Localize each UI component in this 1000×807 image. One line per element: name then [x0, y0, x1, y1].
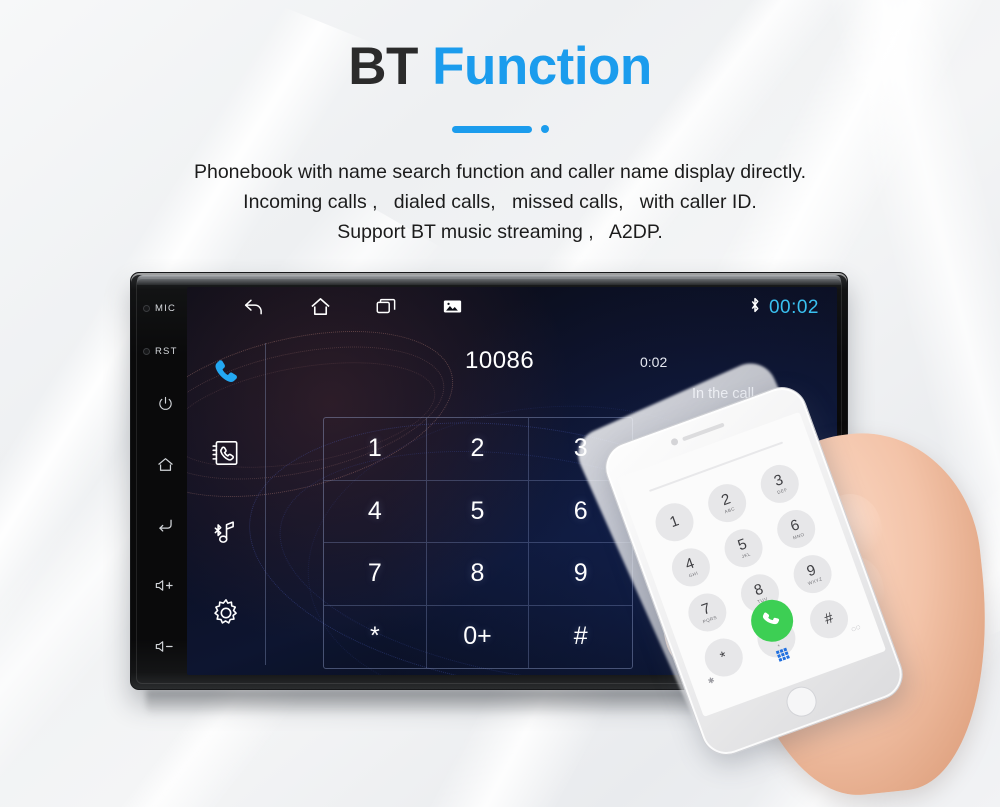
phone-key-digit: * — [718, 649, 729, 665]
phone-key-digit: 5 — [736, 537, 749, 554]
phone-key[interactable]: 6MNO — [772, 505, 821, 554]
sidebar-item-settings[interactable] — [187, 575, 265, 655]
reset-pinhole-icon[interactable] — [143, 348, 150, 355]
dialpad-key[interactable]: 7 — [324, 543, 427, 606]
nav-recents-button[interactable] — [373, 296, 399, 322]
title-divider — [0, 125, 1000, 133]
app-sidebar — [187, 335, 265, 669]
phone-key-digit: 4 — [683, 556, 696, 573]
phone-key[interactable]: 1 — [650, 498, 699, 547]
home-icon — [156, 456, 175, 473]
phone-key-digit: 7 — [700, 601, 713, 618]
dialpad-key[interactable]: 0+ — [427, 606, 530, 669]
phone-key-digit: 2 — [720, 492, 733, 509]
call-duration: 0:02 — [640, 354, 667, 370]
sidebar-item-phonebook[interactable] — [187, 415, 265, 495]
nav-screenshot-button[interactable] — [439, 296, 465, 322]
phone-key-digit: 1 — [668, 513, 681, 530]
power-button[interactable] — [137, 373, 193, 434]
volume-down-icon — [154, 639, 176, 654]
phone-key[interactable]: 9WXYZ — [788, 550, 837, 599]
phone-key[interactable]: 4GHI — [667, 543, 716, 592]
phone-key-sub: ABC — [724, 507, 736, 515]
dialpad-key[interactable]: 2 — [427, 418, 530, 481]
phone-key-digit: # — [822, 610, 835, 627]
back-arrow-icon — [243, 296, 266, 322]
phone-key[interactable]: 3DEF — [755, 460, 804, 509]
gear-icon — [209, 596, 243, 635]
volume-up-button[interactable] — [137, 555, 193, 616]
hardware-bezel: MIC RST — [137, 287, 193, 677]
sidebar-item-dialer[interactable] — [187, 335, 265, 415]
status-time: 00:02 — [769, 297, 819, 319]
dialpad-key[interactable]: 1 — [324, 418, 427, 481]
phonebook-icon — [210, 437, 242, 474]
phone-key[interactable]: 5JKL — [719, 524, 768, 573]
divider-bar — [452, 126, 532, 133]
green-call-icon — [757, 604, 787, 637]
hand-holding-phone-photo: 1 2ABC 3DEF 4GHI 5JKL 6MNO 7PQRS 8TUV 9W… — [636, 398, 1000, 807]
phone-handset-icon — [210, 356, 243, 394]
phone-key-sub: JKL — [741, 552, 751, 559]
mic-label: MIC — [155, 303, 176, 314]
call-number: 10086 — [465, 347, 534, 375]
phone-keypad-grid-icon[interactable] — [776, 648, 790, 662]
phone-dialpad: 1 2ABC 3DEF 4GHI 5JKL 6MNO 7PQRS 8TUV 9W… — [650, 458, 857, 682]
microphone-pinhole-icon — [143, 305, 150, 312]
description-block: Phonebook with name search function and … — [0, 157, 1000, 247]
phone-key-digit: 9 — [805, 563, 818, 580]
reset-row[interactable]: RST — [137, 330, 193, 373]
nav-home-button[interactable] — [307, 296, 333, 322]
status-bar: 00:02 — [748, 296, 819, 319]
page-title-accent: Function — [432, 37, 652, 96]
page-title-prefix: BT — [348, 37, 418, 96]
recent-apps-icon — [375, 297, 397, 321]
description-line-3: Support BT music streaming , A2DP. — [0, 217, 1000, 247]
phone-voicemail-icon[interactable]: ◌◌ — [850, 622, 862, 634]
screenshot-icon — [443, 298, 462, 320]
volume-up-icon — [154, 578, 176, 593]
dialpad-key[interactable]: 4 — [324, 481, 427, 544]
nav-back-button[interactable] — [241, 296, 267, 322]
description-line-1: Phonebook with name search function and … — [0, 157, 1000, 187]
dialpad-key[interactable]: 5 — [427, 481, 530, 544]
phone-key-digit: 8 — [752, 582, 765, 599]
phone-earpiece — [682, 423, 725, 442]
phone-camera-icon — [670, 437, 679, 446]
bluetooth-music-icon — [209, 516, 243, 555]
sidebar-divider — [265, 343, 266, 665]
phone-key-digit: 6 — [789, 518, 802, 535]
rst-label: RST — [155, 346, 178, 357]
dialpad-key[interactable]: * — [324, 606, 427, 669]
phone-home-button[interactable] — [782, 682, 820, 720]
back-hard-button[interactable] — [137, 495, 193, 556]
dialpad-key[interactable]: 9 — [529, 543, 632, 606]
phone-add-contact-icon[interactable]: ✱ — [707, 675, 716, 686]
description-line-2: Incoming calls , dialed calls, missed ca… — [0, 187, 1000, 217]
sidebar-item-bt-music[interactable] — [187, 495, 265, 575]
phone-key[interactable]: 7PQRS — [683, 588, 732, 637]
page-title: BT Function — [0, 40, 1000, 93]
bluetooth-icon — [748, 296, 762, 319]
back-icon — [156, 517, 175, 533]
volume-down-button[interactable] — [137, 616, 193, 677]
divider-dot — [541, 125, 549, 133]
home-hard-button[interactable] — [137, 434, 193, 495]
phone-key[interactable]: 2ABC — [703, 479, 752, 528]
power-icon — [157, 395, 174, 412]
home-icon — [309, 296, 332, 322]
phone-key-sub: DEF — [777, 488, 788, 496]
page-header: BT Function Phonebook with name search f… — [0, 0, 1000, 247]
phone-key-sub: MNO — [793, 533, 806, 541]
dialpad-key[interactable]: 8 — [427, 543, 530, 606]
android-nav-bar — [187, 287, 837, 331]
dialpad-key[interactable]: # — [529, 606, 632, 669]
phone-key-sub: GHI — [689, 572, 699, 579]
phone-key-digit: 3 — [772, 472, 785, 489]
mic-row: MIC — [137, 287, 193, 330]
